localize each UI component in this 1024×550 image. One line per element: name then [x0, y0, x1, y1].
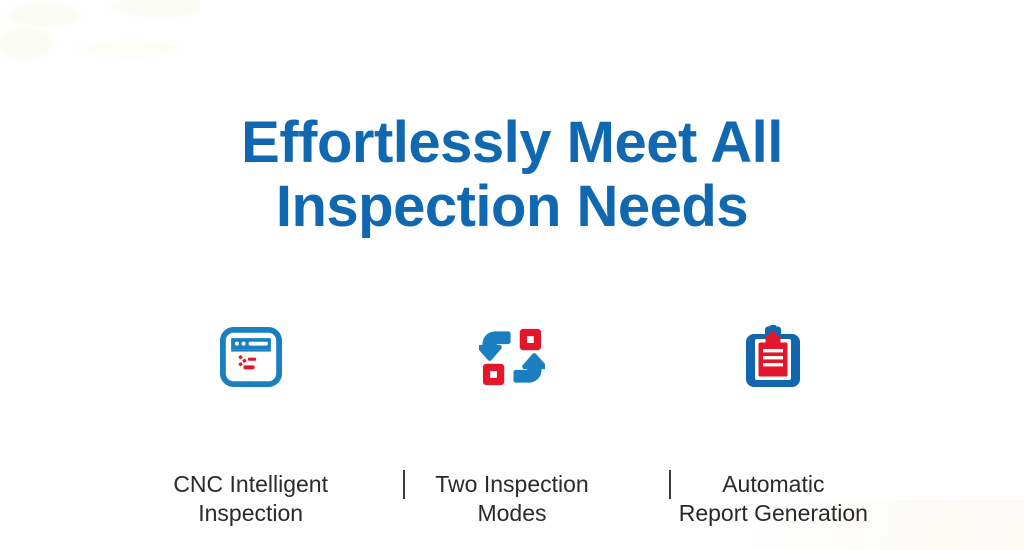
slide-canvas: Effortlessly Meet All Inspection Needs: [0, 0, 1024, 550]
background-watermark-top-left: [0, 0, 200, 80]
page-title: Effortlessly Meet All Inspection Needs: [0, 111, 1024, 239]
feature-item-automatic-report-generation: Automatic Report Generation: [643, 322, 904, 528]
feature-separator: [669, 470, 671, 499]
browser-terminal-window-icon: [216, 322, 286, 392]
feature-label: Automatic Report Generation: [679, 470, 868, 528]
feature-item-cnc-intelligent-inspection: CNC Intelligent Inspection: [120, 322, 381, 528]
clipboard-report-icon: [738, 322, 808, 392]
two-way-arrows-squares-icon: [477, 322, 547, 392]
feature-label: CNC Intelligent Inspection: [173, 470, 328, 528]
feature-list: CNC Intelligent Inspection Two Inspe: [120, 322, 904, 528]
feature-separator: [403, 470, 405, 499]
feature-item-two-inspection-modes: Two Inspection Modes: [381, 322, 642, 528]
feature-label: Two Inspection Modes: [435, 470, 588, 528]
